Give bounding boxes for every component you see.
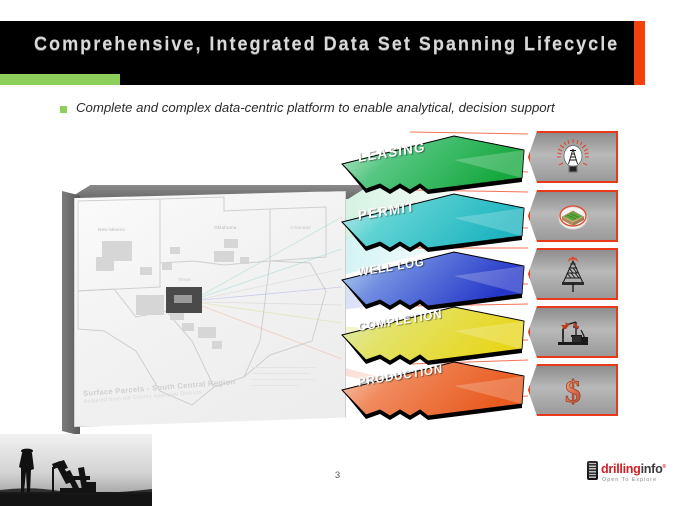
logo-trademark: ®: [662, 464, 665, 470]
derrick-tower-icon: [558, 255, 588, 293]
bullet-row: Complete and complex data-centric platfo…: [60, 100, 555, 115]
page-title: Comprehensive, Integrated Data Set Spann…: [34, 33, 585, 56]
svg-text:$: $: [565, 373, 581, 408]
map-panel-face: New Mexico Oklahoma Arkansas Texas Surfa…: [74, 191, 346, 427]
page-number: 3: [0, 470, 675, 481]
icon-box-permit[interactable]: [528, 190, 618, 242]
map-state-label-arkansas: Arkansas: [290, 225, 311, 230]
orange-accent-bar: [634, 21, 645, 85]
parcel-shape-leasing: [336, 134, 526, 198]
green-accent-bar: [0, 74, 120, 85]
parcel-shape-permit: [336, 192, 526, 256]
land-parcel-icon: [556, 199, 590, 233]
map-state-label-texas: Texas: [178, 277, 192, 282]
map-state-label-oklahoma: Oklahoma: [214, 225, 237, 230]
map-state-label-new-mexico: New Mexico: [98, 227, 125, 232]
icon-box-completion[interactable]: [528, 306, 618, 358]
map-panel: New Mexico Oklahoma Arkansas Texas Surfa…: [62, 185, 354, 437]
logo-word-drilling: drilling: [601, 462, 641, 476]
bullet-text: Complete and complex data-centric platfo…: [76, 100, 555, 115]
lightbulb-derrick-icon: [556, 139, 590, 175]
icon-box-well-log[interactable]: [528, 248, 618, 300]
slide-title-bar: Comprehensive, Integrated Data Set Spann…: [0, 21, 634, 85]
logo-tagline: Open To Explore: [602, 477, 657, 483]
drillinginfo-logo: drillinginfo® Open To Explore: [587, 461, 667, 489]
pumpjack-icon: [553, 316, 593, 348]
icon-box-production[interactable]: $: [528, 364, 618, 416]
logo-wordmark: drillinginfo®: [601, 462, 666, 476]
lifecycle-layer-leasing[interactable]: LEASING: [336, 134, 526, 198]
lifecycle-layer-permit[interactable]: PERMIT: [336, 192, 526, 256]
lifecycle-layer-production[interactable]: PRODUCTION: [336, 360, 526, 424]
slide-canvas: Comprehensive, Integrated Data Set Spann…: [0, 0, 675, 506]
logo-word-info: info: [641, 462, 663, 476]
dollar-sign-icon: $: [559, 372, 587, 408]
icon-box-leasing[interactable]: [528, 131, 618, 183]
bullet-square-icon: [60, 106, 67, 113]
logo-mark-icon: [587, 461, 598, 480]
